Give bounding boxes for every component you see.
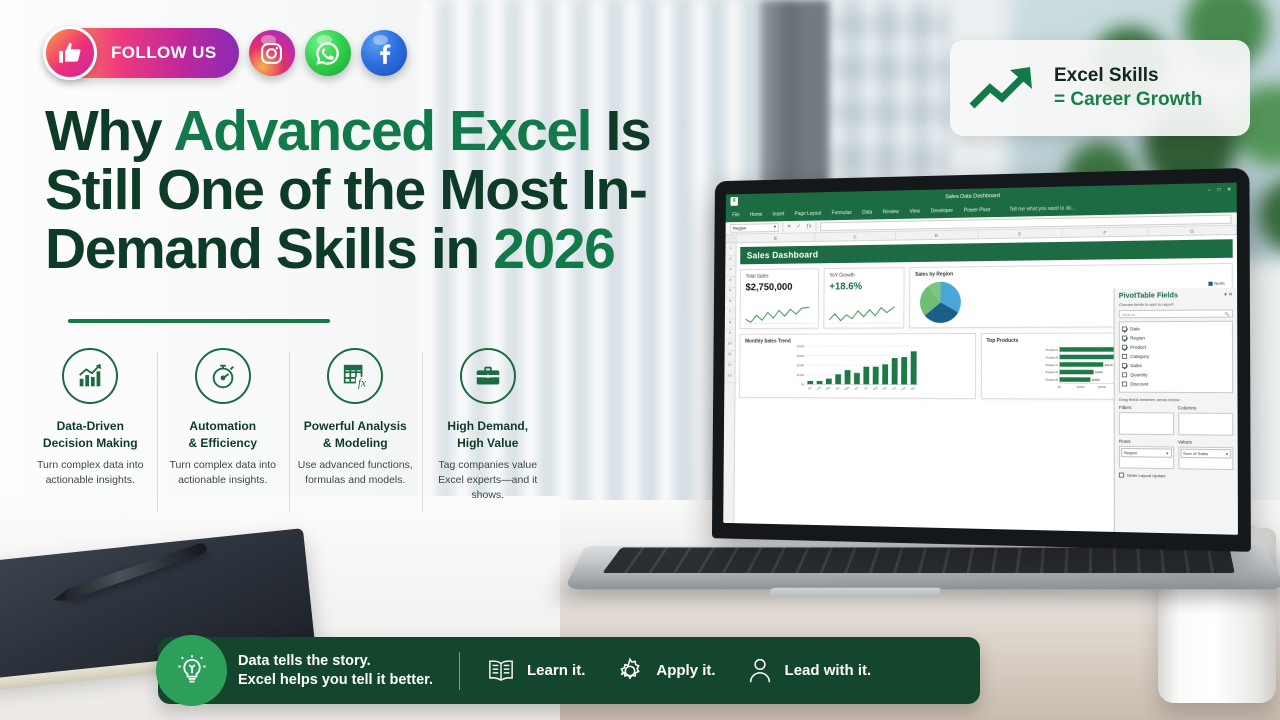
row-header[interactable]: 12 (724, 362, 734, 373)
area-label: Filters (1119, 405, 1174, 410)
pivottable-fields-pane: PivotTable Fields ▾ ✕ Choose fields to a… (1114, 288, 1238, 535)
column-header-b[interactable]: B (737, 233, 816, 242)
row-header[interactable]: 11 (725, 351, 735, 362)
name-box-value: Region (733, 225, 746, 230)
laptop-trackpad[interactable] (768, 588, 941, 596)
spreadsheet-formula-icon: fx (327, 348, 383, 404)
svg-text:Jul: Jul (863, 385, 868, 390)
pivot-field-item[interactable]: Region (1122, 333, 1230, 343)
page-title: Why Advanced Excel Is Still One of the M… (45, 102, 695, 279)
confirm-icon[interactable]: ✓ (797, 224, 801, 230)
laptop-lid: X Sales Data Dashboard – □ ✕ File Home I… (712, 168, 1251, 552)
svg-text:Product C: Product C (1045, 363, 1058, 367)
svg-text:Nov: Nov (900, 385, 907, 391)
open-book-icon (486, 658, 516, 684)
close-icon[interactable]: ✕ (1227, 187, 1231, 193)
headline-line3-part1: Demand Skills in (45, 217, 493, 281)
column-header-g[interactable]: G (1149, 226, 1237, 236)
kpi-card-total-sales: Total Sales $2,750,000 (740, 268, 819, 329)
feature-description: Turn complex data into actionable insigh… (163, 458, 284, 488)
svg-text:Dec: Dec (910, 385, 917, 391)
cta-banner: Data tells the story. Excel helps you te… (158, 637, 980, 704)
headline-line1-part1: Why (45, 99, 173, 163)
legend-item: North (1208, 281, 1225, 286)
growth-arrow-icon (968, 62, 1040, 114)
facebook-glyph (371, 40, 397, 66)
feature-title-line2: High Value (457, 436, 518, 450)
headline-accent-advanced-excel: Advanced Excel (173, 99, 591, 163)
row-header[interactable]: 9 (725, 330, 735, 341)
feature-title: High Demand, High Value (428, 418, 549, 452)
feature-title-line2: & Efficiency (188, 436, 257, 450)
cta-message: Data tells the story. Excel helps you te… (238, 652, 433, 690)
pivot-area-filters[interactable]: Filters (1119, 405, 1174, 435)
spreadsheet-formula-glyph: fx (340, 361, 370, 391)
feature-title-line1: Automation (189, 419, 256, 433)
svg-text:Apr: Apr (835, 385, 841, 391)
feature-title: Data-Driven Decision Making (30, 418, 151, 452)
pivot-field-list[interactable]: Date Region Product Category Sales Quant… (1119, 321, 1233, 393)
feature-title: Powerful Analysis & Modeling (295, 418, 416, 452)
feature-item-powerful-analysis: fx Powerful Analysis & Modeling Use adva… (289, 348, 422, 503)
pivot-pane-title: PivotTable Fields (1119, 292, 1178, 300)
ribbon-tab-view[interactable]: View (909, 209, 919, 215)
pivot-area-rows[interactable]: Rows Region ▾ (1119, 439, 1174, 470)
checkbox[interactable] (1122, 336, 1127, 341)
row-header[interactable]: 8 (725, 319, 735, 330)
column-header-d[interactable]: D (896, 230, 978, 239)
column-header-f[interactable]: F (1062, 227, 1148, 237)
minimize-icon[interactable]: – (1208, 187, 1211, 193)
area-dropzone[interactable]: Sum of Sales ▾ (1178, 447, 1234, 471)
pivot-field-item[interactable]: Product (1122, 342, 1230, 351)
row-header[interactable]: 2 (725, 256, 735, 267)
kpi-label: YoY Growth (829, 272, 898, 279)
follow-us-label: FOLLOW US (111, 43, 217, 63)
ribbon-tab-file[interactable]: File (732, 212, 740, 218)
feature-title-line1: Data-Driven (57, 419, 124, 433)
area-dropzone[interactable]: Region ▾ (1119, 446, 1174, 469)
row-header[interactable]: 6 (725, 298, 735, 309)
insert-function-icon[interactable]: ƒx (806, 224, 811, 230)
cta-item-label: Learn it. (527, 662, 585, 679)
area-label: Values (1178, 439, 1234, 445)
lightbulb-icon (156, 635, 227, 706)
checkbox[interactable] (1122, 354, 1127, 359)
checkbox[interactable] (1122, 345, 1127, 350)
bar-chart-growth-glyph (75, 361, 105, 391)
cta-item-label: Apply it. (656, 662, 715, 679)
laptop-keyboard[interactable] (602, 547, 1235, 573)
excel-window: X Sales Data Dashboard – □ ✕ File Home I… (723, 183, 1238, 535)
cta-item-learn[interactable]: Learn it. (486, 658, 585, 684)
kpi-value: +18.6% (829, 281, 898, 292)
ribbon-tab-review[interactable]: Review (883, 209, 899, 215)
search-icon[interactable]: 🔍 (1224, 311, 1229, 316)
column-header-e[interactable]: E (978, 229, 1062, 238)
pivot-pane-controls[interactable]: ▾ ✕ (1224, 292, 1233, 298)
thumbs-up-glyph (57, 40, 83, 66)
feature-description: Use advanced functions, formulas and mod… (295, 458, 416, 488)
svg-text:Jan: Jan (807, 385, 813, 391)
chart-card-monthly-trend: Monthly Sales Trend $0$100K$200K$300K$40… (739, 333, 975, 399)
pivot-field-item[interactable]: Discount (1122, 379, 1230, 389)
pivot-field-item[interactable]: Category (1122, 352, 1230, 361)
svg-text:$100K: $100K (797, 373, 805, 377)
field-label: Region (1130, 335, 1145, 340)
field-label: Date (1130, 326, 1140, 331)
field-label: Discount (1130, 381, 1148, 386)
headline-accent-year: 2026 (493, 217, 614, 281)
feature-item-automation: Automation & Efficiency Turn complex dat… (157, 348, 290, 503)
laptop-screen: X Sales Data Dashboard – □ ✕ File Home I… (723, 183, 1238, 535)
ribbon-tab-developer[interactable]: Developer (931, 208, 953, 214)
chevron-down-icon[interactable]: ▾ (774, 224, 776, 230)
select-all-corner[interactable] (726, 235, 737, 243)
svg-text:Sep: Sep (881, 385, 888, 391)
svg-text:May: May (844, 385, 851, 391)
row-header[interactable]: 4 (725, 277, 735, 288)
thumbs-up-icon[interactable] (43, 26, 97, 80)
feature-item-data-driven: Data-Driven Decision Making Turn complex… (24, 348, 157, 503)
kpi-label: Total Sales (746, 273, 814, 280)
instagram-glyph (259, 41, 284, 66)
svg-text:Feb: Feb (816, 385, 822, 391)
ribbon-tab-page-layout[interactable]: Page Layout (795, 211, 822, 217)
pill-label: Sum of Sales (1183, 451, 1208, 456)
svg-text:$200K: $200K (1076, 385, 1084, 389)
pivot-field-pill-rows[interactable]: Region ▾ (1121, 448, 1172, 458)
briefcase-glyph (473, 361, 503, 391)
cta-message-line1: Data tells the story. (238, 653, 371, 669)
cancel-icon[interactable]: ✕ (787, 224, 791, 230)
svg-text:$410K: $410K (1104, 363, 1112, 367)
area-dropzone[interactable] (1119, 412, 1174, 435)
feature-title-line1: High Demand, (447, 419, 528, 433)
pivot-field-item[interactable]: Quantity (1122, 370, 1230, 379)
ribbon-tab-formulas[interactable]: Formulas (832, 210, 852, 216)
chart-title: Sales by Region (915, 268, 1226, 278)
svg-text:$0: $0 (1057, 385, 1061, 389)
defer-layout-row[interactable]: Defer Layout Update (1119, 472, 1234, 479)
svg-text:$290K: $290K (1091, 378, 1099, 382)
area-label: Rows (1119, 439, 1174, 445)
facebook-icon[interactable] (361, 30, 407, 76)
ribbon-tab-power-pivot[interactable]: Power Pivot (964, 207, 990, 213)
stopwatch-glyph (208, 361, 238, 391)
svg-text:Product A: Product A (1045, 348, 1057, 352)
pivot-field-pill-values[interactable]: Sum of Sales ▾ (1180, 449, 1231, 459)
feature-list: Data-Driven Decision Making Turn complex… (24, 348, 554, 503)
kpi-card-yoy-growth: YoY Growth +18.6% (823, 267, 904, 329)
pivot-search-placeholder: Search (1122, 312, 1135, 317)
tell-me-search[interactable]: Tell me what you want to do... (1009, 205, 1075, 212)
badge-line1: Excel Skills (1054, 64, 1202, 87)
field-label: Category (1130, 354, 1149, 359)
bar-chart-growth-icon (62, 348, 118, 404)
row-header[interactable]: 10 (725, 341, 735, 352)
row-header[interactable]: 5 (725, 288, 735, 299)
svg-text:$320K: $320K (1095, 370, 1103, 374)
pivot-areas-hint: Drag fields between areas below: (1119, 397, 1233, 403)
field-label: Product (1130, 345, 1146, 350)
pivot-field-item[interactable]: Date (1122, 324, 1230, 334)
pivot-field-item[interactable]: Sales (1122, 361, 1230, 370)
area-dropzone[interactable] (1178, 413, 1234, 436)
sparkline-yoy-growth (829, 306, 900, 324)
cta-message-line2: Excel helps you tell it better. (238, 672, 433, 688)
excel-app-icon: X (730, 197, 737, 206)
divider-rule (68, 319, 330, 323)
sparkline-total-sales (745, 306, 815, 324)
whatsapp-icon[interactable] (305, 30, 351, 76)
feature-description: Turn complex data into actionable insigh… (30, 458, 151, 488)
pill-label: Region (1124, 450, 1137, 455)
checkbox[interactable] (1122, 326, 1127, 331)
checkbox[interactable] (1122, 372, 1127, 377)
headline-line2: Still One of the Most In- (45, 158, 646, 222)
pivot-areas: Drag fields between areas below: Filters… (1119, 397, 1234, 480)
chevron-down-icon[interactable]: ▾ (1166, 451, 1168, 456)
follow-us-pill[interactable]: FOLLOW US (45, 28, 239, 78)
svg-text:Aug: Aug (872, 385, 879, 391)
window-controls[interactable]: – □ ✕ (1208, 187, 1231, 194)
headline-line1-part3: Is (591, 99, 650, 163)
bar-chart-monthly-sales-trend: $0$100K$200K$300K$400KJanFebMarAprMayJun… (742, 344, 967, 396)
row-header[interactable]: 1 (725, 245, 735, 256)
person-icon (746, 656, 774, 686)
svg-text:Product B: Product B (1045, 355, 1058, 359)
ribbon-tab-insert[interactable]: Insert (773, 211, 785, 217)
kpi-value: $2,750,000 (746, 282, 814, 293)
pivot-subtitle: Choose fields to add to report: (1119, 301, 1233, 307)
excel-document-title: Sales Data Dashboard (945, 193, 1000, 200)
excel-worksheet: 1 2 3 4 5 6 7 8 9 10 11 12 13 (723, 235, 1238, 535)
lightbulb-glyph (174, 653, 210, 689)
pivot-area-columns[interactable]: Columns (1178, 405, 1234, 435)
cta-action-list: Learn it. Apply it. Lead with it. (486, 656, 871, 686)
feature-title-line2: Decision Making (43, 436, 138, 450)
poster-canvas: X X Sales Data Dashboard (0, 0, 1280, 720)
pivot-search-input[interactable]: Search 🔍 (1119, 309, 1233, 318)
stopwatch-icon (195, 348, 251, 404)
feature-description: Tag companies value Excel experts—and it… (428, 458, 549, 503)
area-label: Columns (1178, 405, 1234, 411)
briefcase-icon (460, 348, 516, 404)
instagram-icon[interactable] (249, 30, 295, 76)
defer-layout-label: Defer Layout Update (1127, 473, 1166, 479)
maximize-icon[interactable]: □ (1217, 187, 1220, 193)
column-header-c[interactable]: C (815, 232, 896, 241)
field-label: Quantity (1130, 372, 1147, 377)
row-header[interactable]: 7 (725, 309, 735, 320)
name-box[interactable]: Region ▾ (730, 223, 779, 233)
legend-label: North (1214, 281, 1224, 286)
feature-title-line1: Powerful Analysis (304, 419, 407, 433)
checkbox[interactable] (1119, 472, 1124, 477)
pivot-area-values[interactable]: Values Sum of Sales ▾ (1178, 439, 1234, 470)
cta-divider (459, 652, 460, 690)
ribbon-tab-data[interactable]: Data (862, 210, 872, 216)
ribbon-tab-home[interactable]: Home (750, 212, 762, 218)
checkbox[interactable] (1122, 381, 1127, 386)
dashboard-title: Sales Dashboard (740, 239, 1233, 264)
svg-text:$300K: $300K (797, 354, 805, 358)
svg-text:$400K: $400K (1098, 385, 1106, 389)
feature-title: Automation & Efficiency (163, 418, 284, 452)
row-header[interactable]: 3 (725, 266, 735, 277)
chevron-down-icon[interactable]: ▾ (1226, 451, 1228, 456)
svg-text:Mar: Mar (825, 385, 831, 391)
pie-chart-sales-by-region (916, 279, 965, 325)
svg-text:$400K: $400K (797, 344, 805, 348)
badge-line2: = Career Growth (1054, 87, 1202, 112)
svg-text:$200K: $200K (797, 363, 805, 367)
svg-text:Oct: Oct (891, 385, 897, 391)
svg-text:Product D: Product D (1045, 370, 1058, 374)
field-label: Sales (1130, 363, 1142, 368)
social-follow-bar[interactable]: FOLLOW US (45, 28, 407, 78)
svg-text:Jun: Jun (853, 385, 859, 391)
career-growth-badge: Excel Skills = Career Growth (950, 40, 1250, 136)
whatsapp-glyph (314, 40, 341, 67)
row-header[interactable]: 13 (724, 373, 734, 384)
feature-title-line2: & Modeling (323, 436, 388, 450)
gear-icon (615, 656, 645, 686)
feature-item-high-demand: High Demand, High Value Tag companies va… (422, 348, 555, 503)
formula-bar-buttons[interactable]: ✕ ✓ ƒx (782, 221, 816, 231)
cta-item-label: Lead with it. (785, 662, 872, 679)
svg-text:fx: fx (358, 377, 366, 389)
cta-item-lead[interactable]: Lead with it. (746, 656, 872, 686)
svg-text:Product E: Product E (1045, 378, 1058, 382)
cta-item-apply[interactable]: Apply it. (615, 656, 715, 686)
checkbox[interactable] (1122, 363, 1127, 368)
svg-text:$0: $0 (801, 383, 804, 387)
